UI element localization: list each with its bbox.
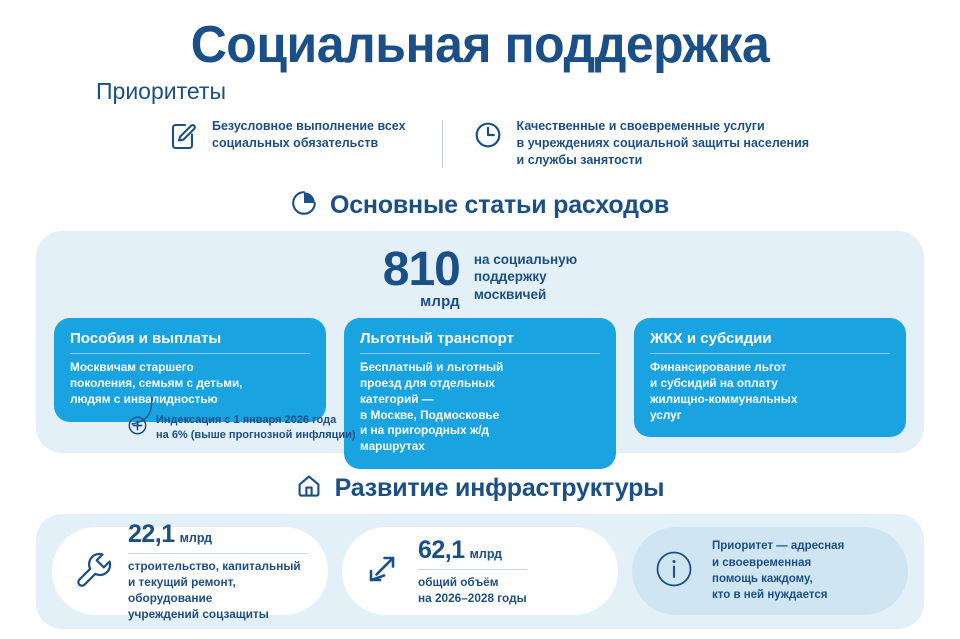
infra-card-value: 62,1 [418, 536, 465, 565]
plus-circle-icon [128, 416, 147, 440]
infra-card-text: строительство, капитальный и текущий рем… [128, 559, 308, 623]
edit-document-icon [168, 120, 198, 155]
indexation-note: Индексация с 1 января 2026 года на 6% (в… [128, 413, 356, 443]
page-header: Социальная поддержка Приоритеты [0, 0, 960, 104]
infra-card-body: 62,1 млрд общий объём на 2026–2028 годы [418, 536, 527, 607]
infra-card-text: Приоритет — адресная и своевременная пом… [712, 538, 844, 603]
priorities-row: Безусловное выполнение всех социальных о… [0, 118, 960, 170]
priority-item-label: Безусловное выполнение всех социальных о… [212, 118, 406, 153]
infra-card-text: общий объём на 2026–2028 годы [418, 575, 527, 607]
info-circle-icon [652, 547, 696, 596]
infra-card-construction[interactable]: 22,1 млрд строительство, капитальный и т… [52, 527, 328, 615]
infra-card-value: 22,1 [128, 520, 175, 549]
expenses-highlight: 810 млрд на социальную поддержку москвич… [36, 231, 924, 311]
expense-cards-row: Пособия и выплаты Москвичам старшего пок… [36, 310, 924, 468]
page-subtitle: Приоритеты [96, 79, 960, 104]
expense-card-title: ЖКХ и субсидии [650, 330, 890, 354]
home-icon [296, 473, 322, 504]
infrastructure-panel: 22,1 млрд строительство, капитальный и т… [36, 514, 924, 629]
infra-card-number-row: 22,1 млрд [128, 520, 308, 549]
section-title-expenses: Основные статьи расходов [330, 191, 669, 220]
priority-item-services: Качественные и своевременные услуги в уч… [473, 118, 810, 170]
expenses-panel: 810 млрд на социальную поддержку москвич… [36, 231, 924, 453]
infra-card-rule [418, 569, 527, 570]
indexation-note-text: Индексация с 1 января 2026 года на 6% (в… [156, 413, 356, 443]
expand-arrows-icon [362, 549, 402, 594]
priority-item-label: Качественные и своевременные услуги в уч… [517, 118, 810, 170]
infra-card-number-row: 62,1 млрд [418, 536, 527, 565]
infra-card-unit: млрд [470, 547, 502, 561]
infra-card-body: 22,1 млрд строительство, капитальный и т… [128, 520, 308, 623]
priority-item-obligations: Безусловное выполнение всех социальных о… [168, 118, 406, 155]
page-title: Социальная поддержка [19, 18, 941, 73]
infra-card-priority-note[interactable]: Приоритет — адресная и своевременная пом… [632, 527, 908, 615]
infra-card-rule [128, 553, 308, 554]
clock-icon [473, 120, 503, 155]
expense-card-utilities[interactable]: ЖКХ и субсидии Финансирование льгот и су… [634, 318, 906, 437]
infra-card-unit: млрд [180, 531, 212, 545]
section-title-infrastructure: Развитие инфраструктуры [335, 474, 665, 503]
infra-card-body: Приоритет — адресная и своевременная пом… [712, 538, 844, 603]
priorities-divider [442, 120, 443, 168]
infra-card-total-volume[interactable]: 62,1 млрд общий объём на 2026–2028 годы [342, 527, 618, 615]
expense-card-body: Финансирование льгот и субсидий на оплат… [650, 360, 890, 423]
expense-card-title: Пособия и выплаты [70, 330, 310, 354]
wrench-icon [72, 549, 112, 594]
section-header-expenses: Основные статьи расходов [0, 190, 960, 221]
expense-card-benefits[interactable]: Пособия и выплаты Москвичам старшего пок… [54, 318, 326, 421]
expense-card-body: Москвичам старшего поколения, семьям с д… [70, 360, 310, 407]
pie-chart-icon [291, 190, 317, 221]
expense-card-title: Льготный транспорт [360, 330, 600, 354]
highlight-description: на социальную поддержку москвичей [474, 247, 577, 304]
highlight-unit: млрд [420, 293, 460, 310]
highlight-value: 810 [383, 247, 460, 293]
expense-card-transport[interactable]: Льготный транспорт Бесплатный и льготный… [344, 318, 616, 468]
highlight-number-group: 810 млрд [383, 247, 460, 311]
expense-card-body: Бесплатный и льготный проезд для отдельн… [360, 360, 600, 454]
section-header-infrastructure: Развитие инфраструктуры [0, 473, 960, 504]
